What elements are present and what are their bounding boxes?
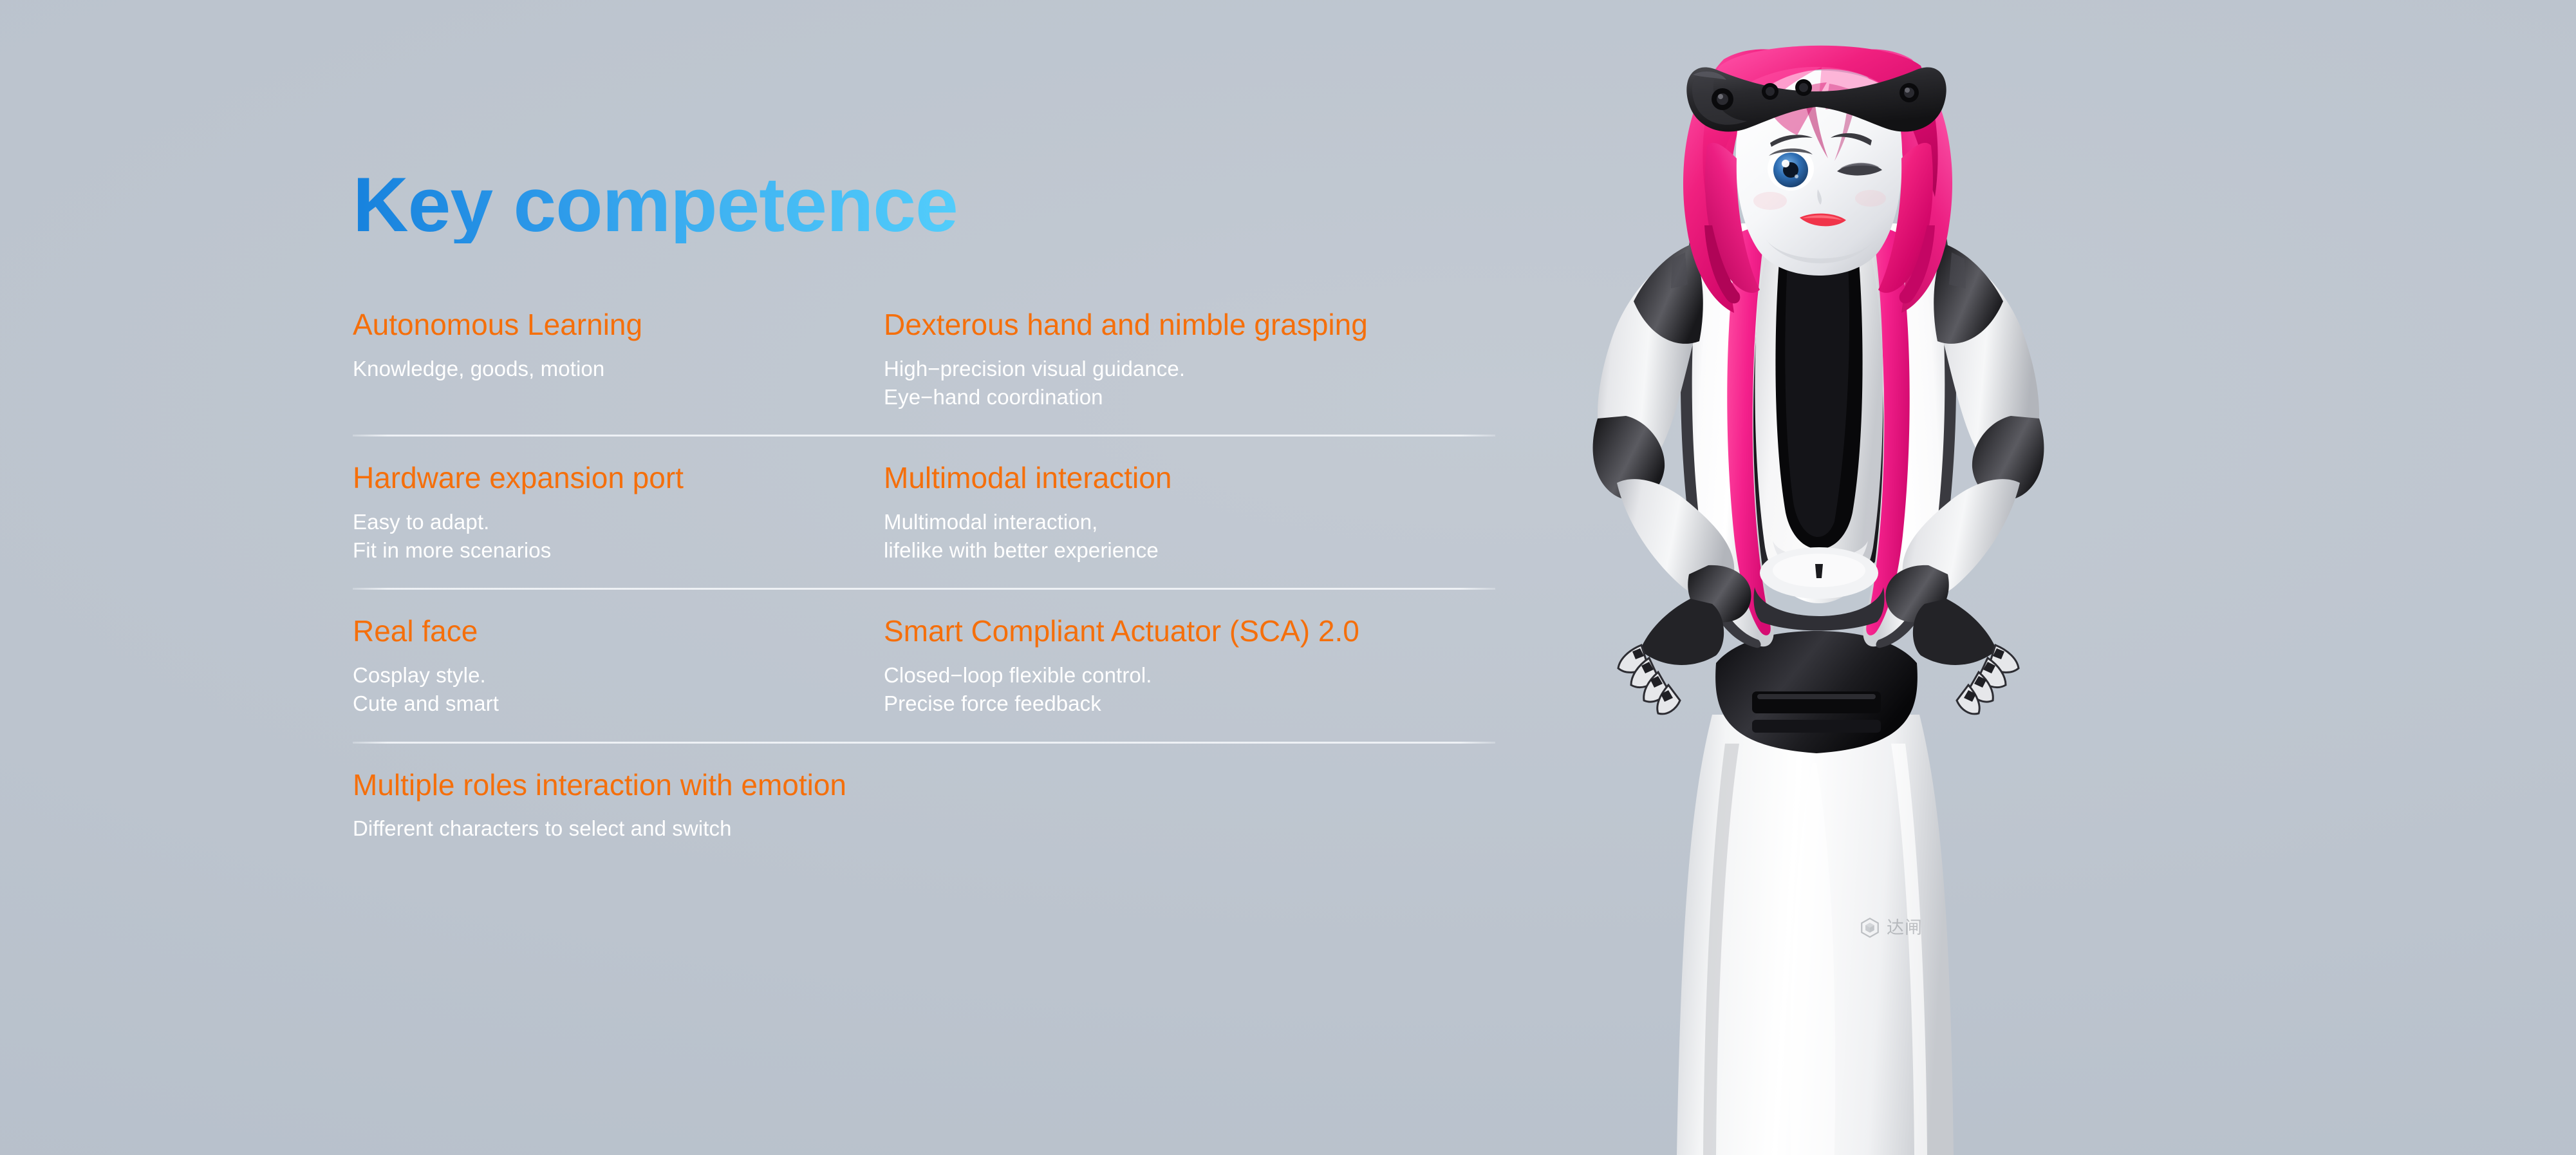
feature-dexterous-hand[interactable]: Dexterous hand and nimble grasping High−… bbox=[884, 309, 1505, 411]
feature-row-4: Multiple roles interaction with emotion … bbox=[353, 769, 1505, 843]
feature-body-line: Knowledge, goods, motion bbox=[353, 355, 884, 383]
feature-body-line: Eye−hand coordination bbox=[884, 383, 1505, 411]
page-title: Key competence bbox=[353, 166, 958, 243]
feature-body-line: Fit in more scenarios bbox=[353, 536, 884, 565]
feature-multimodal-interaction[interactable]: Multimodal interaction Multimodal intera… bbox=[884, 462, 1505, 565]
feature-heading: Real face bbox=[353, 615, 884, 647]
feature-row-3: Real face Cosplay style. Cute and smart … bbox=[353, 615, 1505, 769]
feature-heading: Smart Compliant Actuator (SCA) 2.0 bbox=[884, 615, 1505, 647]
feature-autonomous-learning[interactable]: Autonomous Learning Knowledge, goods, mo… bbox=[353, 309, 884, 411]
feature-body: Cosplay style. Cute and smart bbox=[353, 661, 884, 718]
feature-real-face[interactable]: Real face Cosplay style. Cute and smart bbox=[353, 615, 884, 718]
brand-watermark: 达闸 bbox=[1859, 917, 1923, 939]
feature-body-line: High−precision visual guidance. bbox=[884, 355, 1505, 383]
hex-cube-icon bbox=[1859, 917, 1881, 939]
feature-body: Different characters to select and switc… bbox=[353, 814, 1505, 843]
feature-body: Easy to adapt. Fit in more scenarios bbox=[353, 508, 884, 565]
brand-watermark-text: 达闸 bbox=[1887, 919, 1923, 937]
feature-smart-compliant-actuator[interactable]: Smart Compliant Actuator (SCA) 2.0 Close… bbox=[884, 615, 1505, 718]
feature-body: Closed−loop flexible control. Precise fo… bbox=[884, 661, 1505, 718]
feature-body: Multimodal interaction, lifelike with be… bbox=[884, 508, 1505, 565]
feature-hardware-expansion-port[interactable]: Hardware expansion port Easy to adapt. F… bbox=[353, 462, 884, 565]
feature-body-line: lifelike with better experience bbox=[884, 536, 1505, 565]
feature-body-line: Multimodal interaction, bbox=[884, 508, 1505, 536]
feature-body: High−precision visual guidance. Eye−hand… bbox=[884, 355, 1505, 411]
slide-canvas: Key competence Autonomous Learning Knowl… bbox=[0, 0, 2576, 1155]
feature-heading: Autonomous Learning bbox=[353, 309, 884, 341]
feature-body-line: Cute and smart bbox=[353, 690, 884, 718]
feature-body-line: Different characters to select and switc… bbox=[353, 814, 1505, 843]
feature-body-line: Cosplay style. bbox=[353, 661, 884, 690]
feature-row-2: Hardware expansion port Easy to adapt. F… bbox=[353, 462, 1505, 615]
feature-heading: Multiple roles interaction with emotion bbox=[353, 769, 1505, 801]
feature-body-line: Precise force feedback bbox=[884, 690, 1505, 718]
feature-body-line: Easy to adapt. bbox=[353, 508, 884, 536]
feature-heading: Multimodal interaction bbox=[884, 462, 1505, 494]
feature-heading: Hardware expansion port bbox=[353, 462, 884, 494]
feature-grid: Autonomous Learning Knowledge, goods, mo… bbox=[353, 309, 1505, 843]
feature-row-1: Autonomous Learning Knowledge, goods, mo… bbox=[353, 309, 1505, 462]
feature-body-line: Closed−loop flexible control. bbox=[884, 661, 1505, 690]
robot-illustration bbox=[1500, 32, 2143, 1155]
feature-body: Knowledge, goods, motion bbox=[353, 355, 884, 383]
feature-heading: Dexterous hand and nimble grasping bbox=[884, 309, 1505, 341]
feature-multiple-roles-interaction[interactable]: Multiple roles interaction with emotion … bbox=[353, 769, 1505, 843]
